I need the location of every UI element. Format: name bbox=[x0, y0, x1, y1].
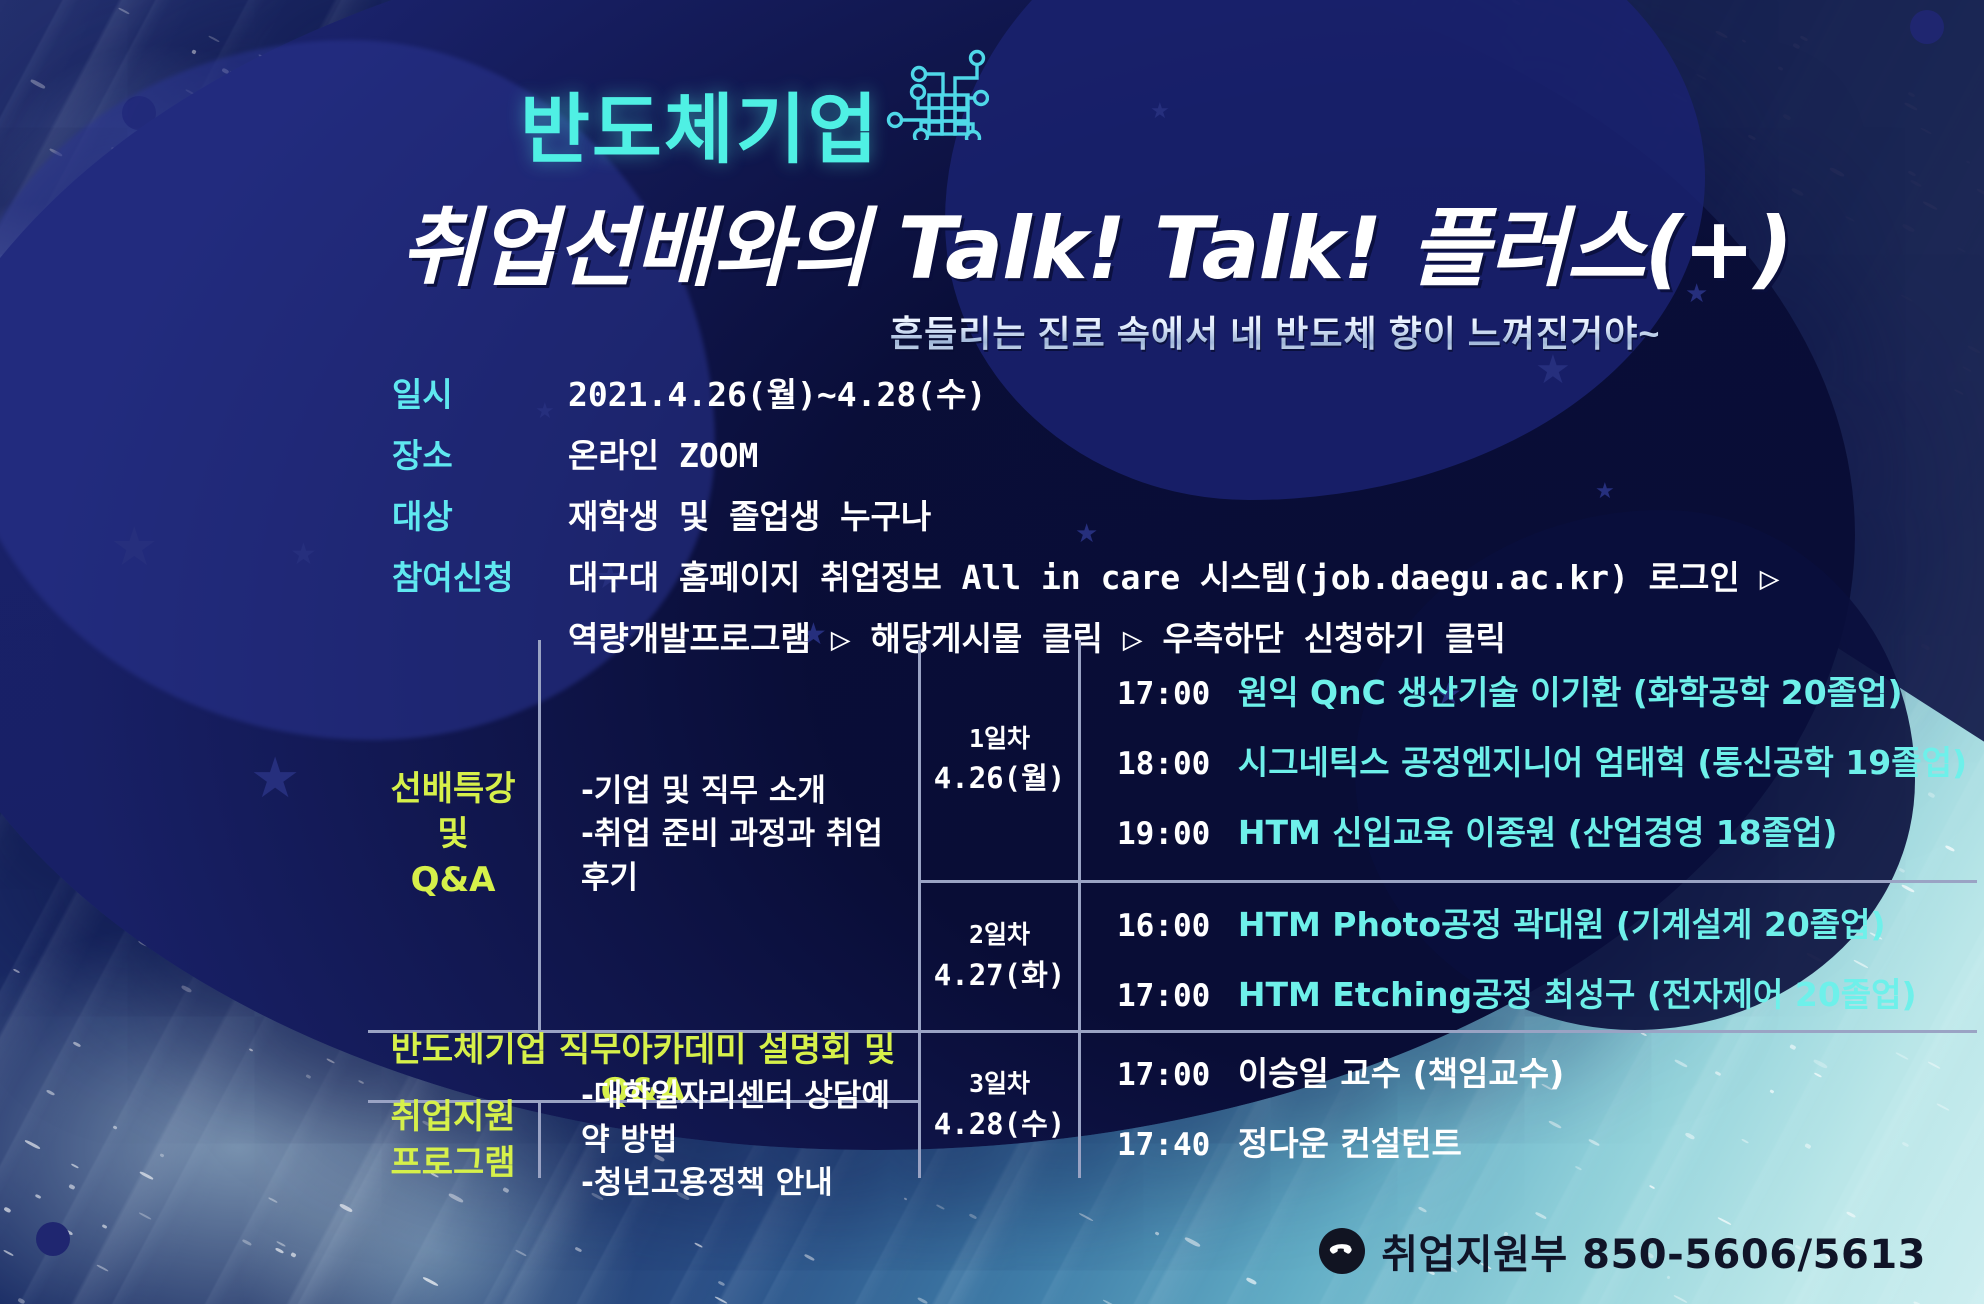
schedule-category-2-text: 취업지원 프로그램 bbox=[390, 1095, 515, 1186]
tagline: 흔들리는 진로 속에서 네 반도체 향이 느껴진거야~ bbox=[890, 305, 1660, 357]
cat1-line3: Q&A bbox=[390, 858, 515, 904]
info-label-place: 장소 bbox=[392, 429, 568, 477]
info-value-audience: 재학생 및 졸업생 누구나 bbox=[568, 490, 931, 538]
cat1-line2: 및 bbox=[390, 812, 515, 858]
circuit-board-icon bbox=[885, 48, 989, 145]
cat2-line1: 취업지원 bbox=[390, 1095, 515, 1141]
info-label-audience: 대상 bbox=[392, 490, 568, 538]
session-time: 18:00 bbox=[1117, 746, 1210, 782]
schedule-sessions-day2: 16:00 HTM Photo공정 곽대원 (기계설계 20졸업) 17:00 … bbox=[1078, 880, 1977, 1030]
session-item: 17:00 HTM Etching공정 최성구 (전자제어 20졸업) bbox=[1117, 968, 1967, 1016]
session-time: 17:00 bbox=[1117, 1057, 1210, 1093]
day1-number: 1일차 bbox=[934, 721, 1065, 757]
schedule-sessions-day3: 17:00 이승일 교수 (책임교수) 17:40 정다운 컨설턴트 bbox=[1078, 1030, 1977, 1178]
session-time: 17:00 bbox=[1117, 676, 1210, 712]
info-row-place: 장소 온라인 ZOOM bbox=[392, 429, 1780, 477]
info-row-audience: 대상 재학생 및 졸업생 누구나 bbox=[392, 490, 1780, 538]
schedule-desc-2-text: -대학일자리센터 상담예약 방법 -청년고용정책 안내 bbox=[551, 1075, 908, 1205]
poster-root: ★★★★★★★★★★★★ 반도체기업 bbox=[0, 0, 1984, 1304]
session-item: 16:00 HTM Photo공정 곽대원 (기계설계 20졸업) bbox=[1117, 898, 1967, 946]
session-time: 17:00 bbox=[1117, 978, 1210, 1014]
contact-text: 취업지원부 850-5606/5613 bbox=[1381, 1222, 1926, 1280]
session-name: HTM Photo공정 곽대원 (기계설계 20졸업) bbox=[1238, 905, 1886, 944]
info-list: 일시 2021.4.26(월)~4.28(수) 장소 온라인 ZOOM 대상 재… bbox=[392, 368, 1780, 660]
schedule-category-1: 선배특강 및 Q&A bbox=[368, 640, 538, 1030]
session-item: 17:40 정다운 컨설턴트 bbox=[1117, 1117, 1967, 1165]
info-label-date: 일시 bbox=[392, 368, 568, 416]
session-item: 19:00 HTM 신입교육 이종원 (산업경영 18졸업) bbox=[1117, 806, 1967, 854]
schedule-sessions-day1: 17:00 원익 QnC 생산기술 이기환 (화학공학 20졸업) 18:00 … bbox=[1078, 640, 1977, 880]
desc1-line1: -기업 및 직무 소개 bbox=[581, 770, 908, 813]
session-name: HTM 신입교육 이종원 (산업경영 18졸업) bbox=[1238, 813, 1838, 852]
day3-number: 3일차 bbox=[934, 1066, 1065, 1102]
day2-number: 2일차 bbox=[934, 917, 1065, 953]
cat1-line1: 선배특강 bbox=[390, 767, 515, 813]
session-time: 16:00 bbox=[1117, 908, 1210, 944]
session-time: 17:40 bbox=[1117, 1127, 1210, 1163]
corner-dot-top-right bbox=[1910, 10, 1944, 44]
schedule-day-1: 1일차 4.26(월) bbox=[918, 640, 1078, 880]
session-item: 17:00 이승일 교수 (책임교수) bbox=[1117, 1047, 1967, 1095]
info-value-date: 2021.4.26(월)~4.28(수) bbox=[568, 368, 986, 416]
session-item: 17:00 원익 QnC 생산기술 이기환 (화학공학 20졸업) bbox=[1117, 666, 1967, 714]
session-item: 18:00 시그네틱스 공정엔지니어 엄태혁 (통신공학 19졸업) bbox=[1117, 736, 1967, 784]
schedule-category-1-text: 선배특강 및 Q&A bbox=[390, 767, 515, 904]
schedule-desc-2: -대학일자리센터 상담예약 방법 -청년고용정책 안내 bbox=[538, 1100, 918, 1178]
info-label-apply: 참여신청 bbox=[392, 551, 568, 599]
kicker-title: 반도체기업 bbox=[520, 68, 880, 178]
schedule-day-3-text: 3일차 4.28(수) bbox=[934, 1066, 1065, 1144]
desc2-line1: -대학일자리센터 상담예약 방법 bbox=[581, 1075, 908, 1162]
info-row-apply: 참여신청 대구대 홈페이지 취업정보 All in care 시스템(job.d… bbox=[392, 551, 1780, 599]
schedule-day-1-text: 1일차 4.26(월) bbox=[934, 721, 1065, 799]
schedule-table: 선배특강 및 Q&A -기업 및 직무 소개 -취업 준비 과정과 취업 후기 … bbox=[368, 640, 1798, 1160]
day1-date: 4.26(월) bbox=[934, 757, 1065, 799]
info-row-date: 일시 2021.4.26(월)~4.28(수) bbox=[392, 368, 1780, 416]
schedule-day-3: 3일차 4.28(수) bbox=[918, 1030, 1078, 1178]
desc2-line2: -청년고용정책 안내 bbox=[581, 1162, 908, 1205]
phone-icon bbox=[1319, 1228, 1365, 1274]
day3-date: 4.28(수) bbox=[934, 1103, 1065, 1145]
schedule-category-2: 취업지원 프로그램 bbox=[368, 1100, 538, 1178]
session-name: 이승일 교수 (책임교수) bbox=[1238, 1054, 1564, 1093]
session-name: 정다운 컨설턴트 bbox=[1238, 1124, 1462, 1163]
sessions-day1-list: 17:00 원익 QnC 생산기술 이기환 (화학공학 20졸업) 18:00 … bbox=[1091, 666, 1967, 854]
schedule-desc-1-text: -기업 및 직무 소개 -취업 준비 과정과 취업 후기 bbox=[551, 770, 908, 900]
info-value-place: 온라인 ZOOM bbox=[568, 429, 758, 477]
cat2-line2: 프로그램 bbox=[390, 1141, 515, 1187]
desc1-line2: -취업 준비 과정과 취업 후기 bbox=[581, 813, 908, 900]
schedule-desc-1: -기업 및 직무 소개 -취업 준비 과정과 취업 후기 bbox=[538, 640, 918, 1030]
session-name: 원익 QnC 생산기술 이기환 (화학공학 20졸업) bbox=[1238, 673, 1903, 712]
sessions-day3-list: 17:00 이승일 교수 (책임교수) 17:40 정다운 컨설턴트 bbox=[1091, 1047, 1967, 1165]
schedule-day-2-text: 2일차 4.27(화) bbox=[934, 917, 1065, 995]
contact-bar: 취업지원부 850-5606/5613 bbox=[1319, 1222, 1926, 1280]
schedule-day-2: 2일차 4.27(화) bbox=[918, 880, 1078, 1030]
main-title: 취업선배와의 Talk! Talk! 플러스(+) bbox=[400, 178, 1792, 303]
session-time: 19:00 bbox=[1117, 816, 1210, 852]
info-value-apply: 대구대 홈페이지 취업정보 All in care 시스템(job.daegu.… bbox=[568, 551, 1780, 599]
corner-dot-bottom-left bbox=[36, 1222, 70, 1256]
session-name: HTM Etching공정 최성구 (전자제어 20졸업) bbox=[1238, 975, 1917, 1014]
day2-date: 4.27(화) bbox=[934, 954, 1065, 996]
sessions-day2-list: 16:00 HTM Photo공정 곽대원 (기계설계 20졸업) 17:00 … bbox=[1091, 898, 1967, 1016]
session-name: 시그네틱스 공정엔지니어 엄태혁 (통신공학 19졸업) bbox=[1238, 743, 1967, 782]
